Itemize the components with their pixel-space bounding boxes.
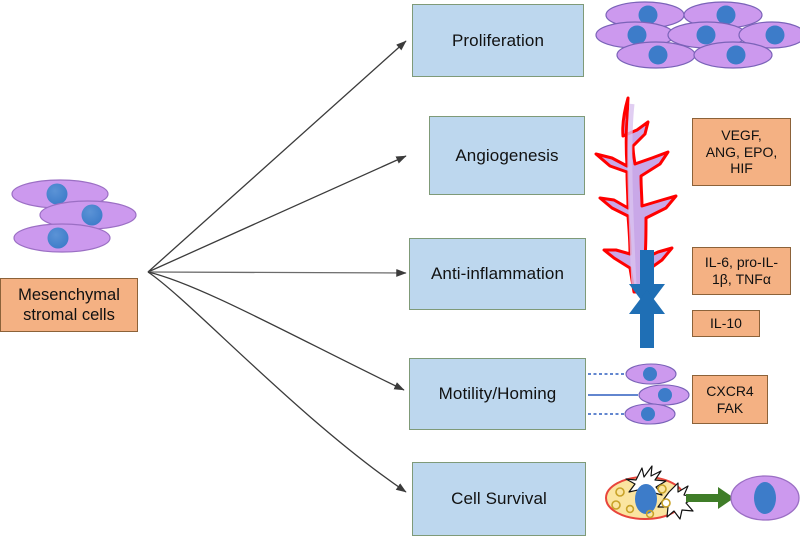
arrow-up-icon bbox=[629, 290, 665, 348]
process-label-anti-inflammation: Anti-inflammation bbox=[431, 264, 564, 284]
illustration-layer bbox=[0, 0, 800, 540]
cell-survival-illustration bbox=[606, 466, 799, 520]
factor-box-homing-molecules: CXCR4 FAK bbox=[692, 375, 768, 424]
migrating-cells-illustration bbox=[588, 364, 689, 424]
arrow-to-cell-survival bbox=[148, 272, 406, 492]
source-box-label: Mesenchymal stromal cells bbox=[18, 285, 120, 325]
process-box-cell-survival: Cell Survival bbox=[412, 462, 586, 536]
bleb-icon-2 bbox=[658, 483, 695, 519]
arrow-to-motility-homing bbox=[148, 272, 404, 390]
green-arrow-icon bbox=[686, 487, 734, 509]
process-label-motility-homing: Motility/Homing bbox=[439, 384, 557, 404]
process-box-motility-homing: Motility/Homing bbox=[409, 358, 586, 430]
figure-canvas: Mesenchymal stromal cells Proliferation … bbox=[0, 0, 800, 540]
process-box-proliferation: Proliferation bbox=[412, 4, 584, 77]
process-label-proliferation: Proliferation bbox=[452, 31, 544, 51]
factor-box-pro-inflammatory-cytokines: IL-6, pro-IL- 1β, TNFα bbox=[692, 247, 791, 295]
source-box-mesenchymal-stromal-cells: Mesenchymal stromal cells bbox=[0, 278, 138, 332]
arrow-to-angiogenesis bbox=[148, 156, 406, 272]
msc-source-cells bbox=[12, 180, 136, 252]
factor-label-anti-inflammatory-cytokine: IL-10 bbox=[710, 315, 742, 332]
process-label-angiogenesis: Angiogenesis bbox=[455, 146, 558, 166]
arrow-to-anti-inflammation bbox=[148, 272, 406, 273]
bleb-icon bbox=[626, 466, 666, 501]
cell-cluster-illustration bbox=[596, 2, 800, 68]
blue-arrows-illustration bbox=[629, 250, 665, 348]
arrow-down-icon bbox=[629, 250, 665, 308]
factor-label-homing-molecules: CXCR4 FAK bbox=[706, 383, 753, 416]
factor-box-anti-inflammatory-cytokine: IL-10 bbox=[692, 310, 760, 337]
process-box-anti-inflammation: Anti-inflammation bbox=[409, 238, 586, 310]
blood-vessel-illustration bbox=[596, 98, 676, 292]
factor-label-angiogenesis-factors: VEGF, ANG, EPO, HIF bbox=[706, 127, 778, 177]
process-box-angiogenesis: Angiogenesis bbox=[429, 116, 585, 195]
process-label-cell-survival: Cell Survival bbox=[451, 489, 547, 509]
flow-arrows bbox=[148, 41, 406, 492]
healthy-cell bbox=[731, 476, 799, 520]
factor-label-pro-inflammatory-cytokines: IL-6, pro-IL- 1β, TNFα bbox=[705, 254, 778, 287]
factor-box-angiogenesis-factors: VEGF, ANG, EPO, HIF bbox=[692, 118, 791, 186]
arrow-to-proliferation bbox=[148, 41, 406, 272]
